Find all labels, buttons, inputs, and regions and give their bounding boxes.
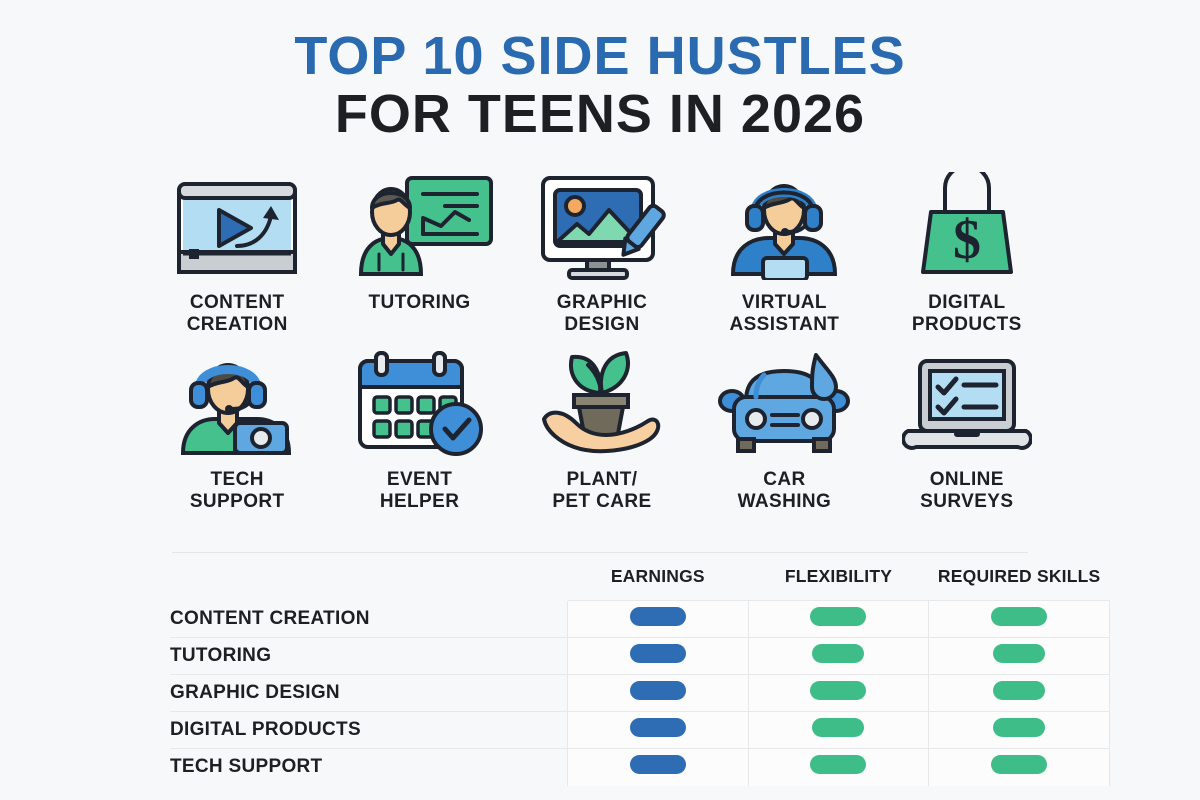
laptop-checklist-icon: [902, 345, 1032, 457]
video-player-growth-icon: [171, 168, 303, 280]
skills-bar: [993, 644, 1045, 663]
table-header-row: EARNINGS FLEXIBILITY REQUIRED SKILLS: [170, 566, 1110, 601]
table-row: GRAPHIC DESIGN: [170, 675, 1110, 712]
flexibility-bar: [812, 644, 864, 663]
earnings-bar: [630, 755, 686, 774]
earnings-bar: [630, 644, 686, 663]
hustle-label: ONLINE SURVEYS: [920, 469, 1013, 514]
hustle-item-tech-support[interactable]: TECH SUPPORT: [146, 345, 328, 514]
row-label: TUTORING: [170, 638, 567, 675]
title-line-2: FOR TEENS IN 2026: [0, 85, 1200, 143]
cell-required-skills: [929, 675, 1110, 712]
skills-bar: [991, 755, 1047, 774]
table-row: TUTORING: [170, 638, 1110, 675]
calendar-check-icon: [352, 345, 488, 457]
hustle-item-car-washing[interactable]: CAR WASHING: [693, 345, 875, 514]
cell-earnings: [567, 675, 748, 712]
hustle-label: PLANT/ PET CARE: [552, 469, 651, 514]
cell-required-skills: [929, 712, 1110, 749]
hustle-item-event-helper[interactable]: EVENT HELPER: [328, 345, 510, 514]
hustle-item-graphic-design[interactable]: GRAPHIC DESIGN: [511, 168, 693, 337]
infographic-page: TOP 10 SIDE HUSTLES FOR TEENS IN 2026: [0, 0, 1200, 800]
cell-flexibility: [748, 601, 929, 638]
hustle-icon-grid: CONTENT CREATION TUTORING: [146, 168, 1058, 514]
header-spacer: [170, 566, 567, 601]
flexibility-bar: [812, 718, 864, 737]
hustle-label: CONTENT CREATION: [187, 292, 288, 337]
cell-earnings: [567, 749, 748, 786]
svg-text:$: $: [953, 209, 981, 271]
row-label: DIGITAL PRODUCTS: [170, 712, 567, 749]
cell-required-skills: [929, 601, 1110, 638]
hustle-item-online-surveys[interactable]: ONLINE SURVEYS: [876, 345, 1058, 514]
cell-earnings: [567, 601, 748, 638]
monitor-image-pencil-icon: [535, 168, 669, 280]
row-label: GRAPHIC DESIGN: [170, 675, 567, 712]
cell-flexibility: [748, 638, 929, 675]
title-line-1: TOP 10 SIDE HUSTLES: [0, 28, 1200, 85]
hustle-item-virtual-assistant[interactable]: VIRTUAL ASSISTANT: [693, 168, 875, 337]
support-agent-laptop-icon: [171, 345, 303, 457]
earnings-bar: [630, 681, 686, 700]
earnings-bar: [630, 718, 686, 737]
flexibility-bar: [810, 755, 866, 774]
hustle-label: VIRTUAL ASSISTANT: [729, 292, 839, 337]
hustle-label: EVENT HELPER: [380, 469, 459, 514]
section-divider: [172, 552, 1028, 553]
skills-bar: [991, 607, 1047, 626]
hustle-label: GRAPHIC DESIGN: [557, 292, 647, 337]
column-header-earnings: EARNINGS: [567, 566, 748, 601]
table-row: CONTENT CREATION: [170, 601, 1110, 638]
row-label: CONTENT CREATION: [170, 601, 567, 638]
table-row: DIGITAL PRODUCTS: [170, 712, 1110, 749]
hand-plant-icon: [536, 345, 668, 457]
column-header-flexibility: FLEXIBILITY: [748, 566, 929, 601]
shopping-bag-dollar-icon: $: [909, 168, 1025, 280]
flexibility-bar: [810, 607, 866, 626]
car-water-drop-icon: [716, 345, 852, 457]
cell-flexibility: [748, 675, 929, 712]
hustle-item-plant-pet-care[interactable]: PLANT/ PET CARE: [511, 345, 693, 514]
cell-flexibility: [748, 749, 929, 786]
column-header-required-skills: REQUIRED SKILLS: [929, 566, 1110, 601]
cell-required-skills: [929, 638, 1110, 675]
skills-bar: [993, 718, 1045, 737]
skills-bar: [993, 681, 1045, 700]
hustle-label: DIGITAL PRODUCTS: [912, 292, 1022, 337]
cell-required-skills: [929, 749, 1110, 786]
hustle-label: TECH SUPPORT: [190, 469, 285, 514]
hustle-item-content-creation[interactable]: CONTENT CREATION: [146, 168, 328, 337]
comparison-table: EARNINGS FLEXIBILITY REQUIRED SKILLS CON…: [170, 566, 1110, 786]
hustle-label: CAR WASHING: [738, 469, 832, 514]
table-row: TECH SUPPORT: [170, 749, 1110, 786]
cell-earnings: [567, 712, 748, 749]
cell-earnings: [567, 638, 748, 675]
hustle-label: TUTORING: [369, 292, 471, 314]
hustle-item-digital-products[interactable]: $ DIGITAL PRODUCTS: [876, 168, 1058, 337]
row-label: TECH SUPPORT: [170, 749, 567, 786]
hustle-item-tutoring[interactable]: TUTORING: [328, 168, 510, 337]
headset-person-laptop-icon: [725, 168, 843, 280]
tutor-whiteboard-icon: [345, 168, 495, 280]
page-title: TOP 10 SIDE HUSTLES FOR TEENS IN 2026: [0, 28, 1200, 143]
cell-flexibility: [748, 712, 929, 749]
flexibility-bar: [810, 681, 866, 700]
earnings-bar: [630, 607, 686, 626]
